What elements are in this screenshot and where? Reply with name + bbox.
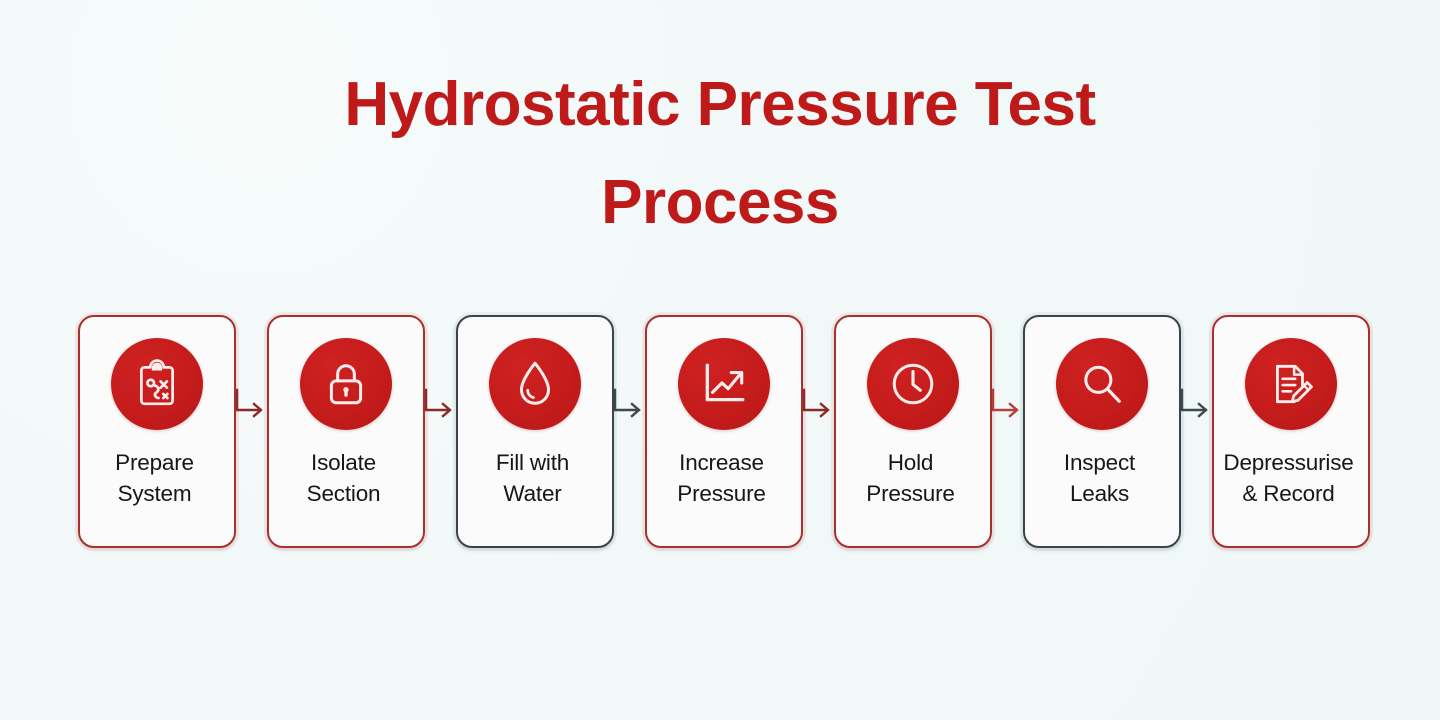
page-title: Hydrostatic Pressure Test Process [0, 56, 1440, 252]
process-step-isolate-section[interactable]: Isolate Section [267, 315, 425, 548]
step-label: Inspect Leaks [1016, 447, 1184, 509]
step-label: Increase Pressure [638, 447, 806, 509]
step-label: Fill with Water [449, 447, 617, 509]
process-step-inspect-leaks[interactable]: Inspect Leaks [1023, 315, 1181, 548]
step-icon-badge [867, 338, 959, 430]
process-step-fill-with-water[interactable]: Fill with Water [456, 315, 614, 548]
infographic-canvas: Hydrostatic Pressure Test Process Prepar [0, 0, 1440, 720]
flow-arrow-4 [803, 388, 834, 432]
step-label: Isolate Section [260, 447, 428, 509]
water-drop-icon [513, 358, 557, 410]
flow-arrow-3 [614, 388, 645, 432]
step-icon-badge [678, 338, 770, 430]
process-step-increase-pressure[interactable]: Increase Pressure [645, 315, 803, 548]
page-title-line-1: Hydrostatic Pressure Test [0, 56, 1440, 154]
step-label: Prepare System [71, 447, 239, 509]
document-pencil-icon [1266, 359, 1316, 409]
padlock-icon [322, 359, 370, 409]
step-icon-badge [489, 338, 581, 430]
step-icon-badge [1056, 338, 1148, 430]
flow-arrow-2 [425, 388, 456, 432]
process-flow: Prepare System Isolate Sectio [78, 306, 1368, 556]
clock-icon [888, 359, 938, 409]
flow-arrow-5 [992, 388, 1023, 432]
step-label: Depressurise & Record [1205, 447, 1373, 509]
step-icon-badge [300, 338, 392, 430]
magnifier-icon [1078, 360, 1126, 408]
page-title-line-2: Process [0, 154, 1440, 252]
process-step-prepare-system[interactable]: Prepare System [78, 315, 236, 548]
step-icon-badge [1245, 338, 1337, 430]
process-step-depressurise-record[interactable]: Depressurise & Record [1212, 315, 1370, 548]
step-label: Hold Pressure [827, 447, 995, 509]
flow-arrow-6 [1181, 388, 1212, 432]
flow-arrow-1 [236, 388, 267, 432]
trending-up-chart-icon [699, 360, 749, 408]
step-icon-badge [111, 338, 203, 430]
process-step-hold-pressure[interactable]: Hold Pressure [834, 315, 992, 548]
clipboard-strategy-icon [132, 359, 182, 409]
